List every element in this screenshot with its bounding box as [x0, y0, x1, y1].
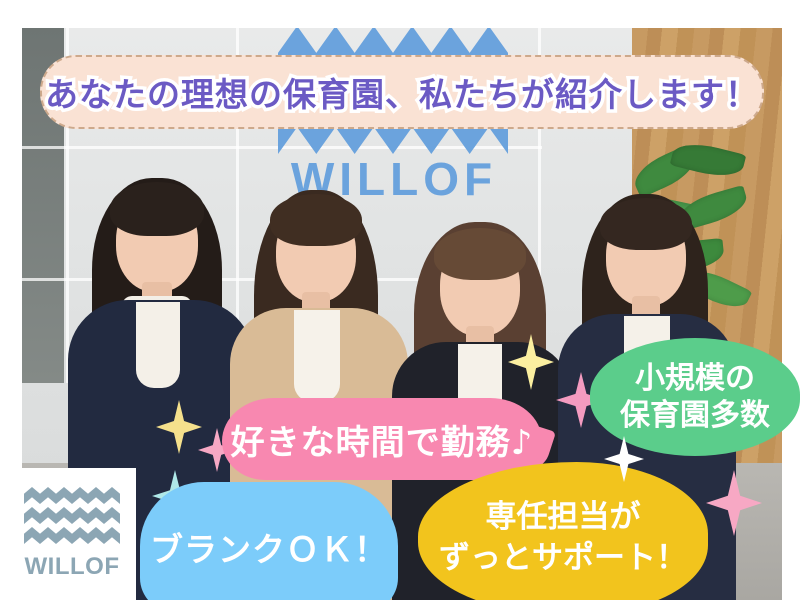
bubble-small-nurseries-line2: 保育園多数 [620, 398, 770, 433]
headline-banner: あなたの理想の保育園、私たちが紹介します！ [40, 55, 764, 129]
logo-zigzag-icon [24, 507, 120, 524]
logo-zigzag-icon [24, 487, 120, 504]
willof-logo: WILLOF [8, 468, 136, 600]
headline-text: あなたの理想の保育園、私たちが紹介します！ [45, 68, 759, 116]
bubble-blank-ok-text: ブランクＯＫ！ [150, 523, 388, 571]
bubble-dedicated-support-line2: ずっとサポート！ [439, 540, 687, 576]
poster-canvas: WILLOF [0, 0, 800, 600]
logo-zigzag-icon [24, 527, 120, 544]
logo-wordmark: WILLOF [25, 553, 120, 581]
bubble-flexible-hours[interactable]: 好きな時間で勤務♪ [222, 398, 542, 480]
bubble-small-nurseries[interactable]: 小規模の 保育園多数 [590, 338, 800, 456]
bubble-small-nurseries-line1: 小規模の [635, 361, 755, 396]
bubble-flexible-hours-text: 好きな時間で勤務♪ [231, 415, 534, 464]
bubble-blank-ok[interactable]: ブランクＯＫ！ [140, 482, 398, 600]
bubble-small-nurseries-text: 小規模の 保育園多数 [620, 360, 770, 435]
bubble-dedicated-support-text: 専任担当が ずっとサポート！ [439, 497, 687, 579]
bubble-dedicated-support-line1: 専任担当が [486, 499, 641, 535]
